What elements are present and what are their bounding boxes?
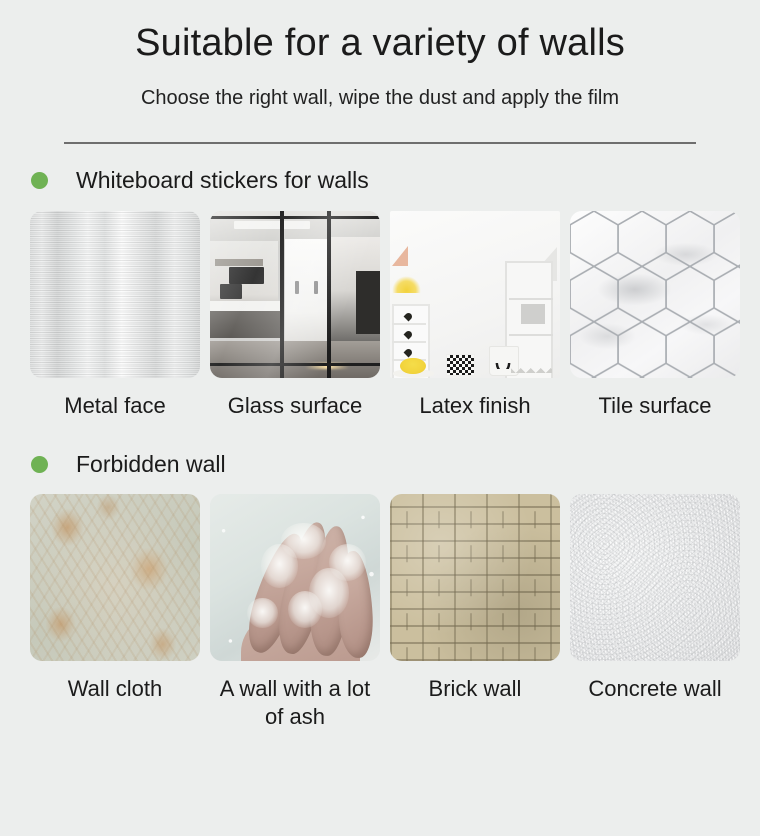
section-title-allowed: Whiteboard stickers for walls bbox=[76, 169, 369, 192]
tile-caption: Wall cloth bbox=[30, 675, 200, 703]
drawer-line bbox=[392, 341, 426, 343]
brick-offset-joints bbox=[390, 494, 560, 661]
green-dot-icon bbox=[31, 456, 48, 473]
tile-metal-face: Metal face bbox=[30, 211, 200, 420]
section-header-forbidden: Forbidden wall bbox=[0, 449, 760, 479]
triangle-decor-shape bbox=[392, 246, 408, 266]
counter-shape bbox=[210, 301, 281, 311]
tile-tile-surface: Tile surface bbox=[570, 211, 740, 420]
tile-concrete-wall: Concrete wall bbox=[570, 494, 740, 730]
hand-covered-in-dust-image bbox=[210, 494, 380, 661]
textured-stucco-wall-image bbox=[570, 494, 740, 661]
tile-caption: Tile surface bbox=[570, 392, 740, 420]
header-divider bbox=[64, 142, 696, 144]
section-allowed-walls: Whiteboard stickers for walls Metal face bbox=[0, 166, 760, 420]
damask-fabric-wallpaper-image bbox=[30, 494, 200, 661]
shelf-line bbox=[509, 298, 553, 300]
drawer-line bbox=[392, 323, 426, 325]
green-dot-icon bbox=[31, 172, 48, 189]
header: Suitable for a variety of walls Choose t… bbox=[0, 0, 760, 144]
dust-specks bbox=[210, 494, 380, 661]
glass-rail-bottom bbox=[210, 363, 380, 366]
tile-caption: Metal face bbox=[30, 392, 200, 420]
appliance-shape bbox=[220, 284, 242, 299]
tile-wall-cloth: Wall cloth bbox=[30, 494, 200, 730]
shelf-box-shape bbox=[521, 304, 545, 324]
zigzag-decor-shape bbox=[511, 363, 552, 378]
white-painted-room-image bbox=[390, 211, 560, 378]
dark-opening-shape bbox=[356, 271, 380, 334]
section-title-forbidden: Forbidden wall bbox=[76, 453, 226, 476]
glass-rail-top bbox=[210, 216, 380, 219]
tile-glass-surface: Glass surface bbox=[210, 211, 380, 420]
tile-caption: Concrete wall bbox=[570, 675, 740, 703]
section-forbidden-walls: Forbidden wall Wall cloth bbox=[0, 449, 760, 730]
page-subtitle: Choose the right wall, wipe the dust and… bbox=[0, 86, 760, 110]
tile-caption: Latex finish bbox=[390, 392, 560, 420]
glass-mullion bbox=[280, 211, 284, 378]
door-handle-shape bbox=[295, 281, 299, 294]
beige-brick-wall-image bbox=[390, 494, 560, 661]
ceiling-light-strip bbox=[234, 221, 311, 229]
door-handle-shape bbox=[314, 281, 318, 294]
page-title: Suitable for a variety of walls bbox=[0, 22, 760, 66]
tile-caption: A wall with a lot of ash bbox=[210, 675, 380, 730]
tile-ash-wall: A wall with a lot of ash bbox=[210, 494, 380, 730]
tile-row-allowed: Metal face bbox=[0, 211, 760, 420]
tile-brick-wall: Brick wall bbox=[390, 494, 560, 730]
interior-glass-partition-image bbox=[210, 211, 380, 378]
wall-shelf-shape bbox=[215, 259, 263, 266]
glass-mullion bbox=[327, 211, 331, 378]
section-header-allowed: Whiteboard stickers for walls bbox=[0, 166, 760, 196]
yellow-plant-shape bbox=[392, 276, 421, 294]
tile-row-forbidden: Wall cloth A wal bbox=[0, 494, 760, 730]
tile-caption: Glass surface bbox=[210, 392, 380, 420]
hexagon-grid bbox=[570, 211, 740, 378]
floor-shape bbox=[210, 341, 380, 378]
hexagon-marble-tile-image bbox=[570, 211, 740, 378]
white-door-shape bbox=[285, 239, 331, 343]
cabinet-shape bbox=[210, 311, 281, 338]
brushed-metal-panel-image bbox=[30, 211, 200, 378]
tile-caption: Brick wall bbox=[390, 675, 560, 703]
lemon-shape bbox=[400, 358, 426, 375]
shelf-line bbox=[509, 334, 553, 336]
checkered-basket-shape bbox=[446, 354, 475, 376]
infographic-page: Suitable for a variety of walls Choose t… bbox=[0, 0, 760, 836]
tile-latex-finish: Latex finish bbox=[390, 211, 560, 420]
tv-shape bbox=[229, 267, 265, 284]
